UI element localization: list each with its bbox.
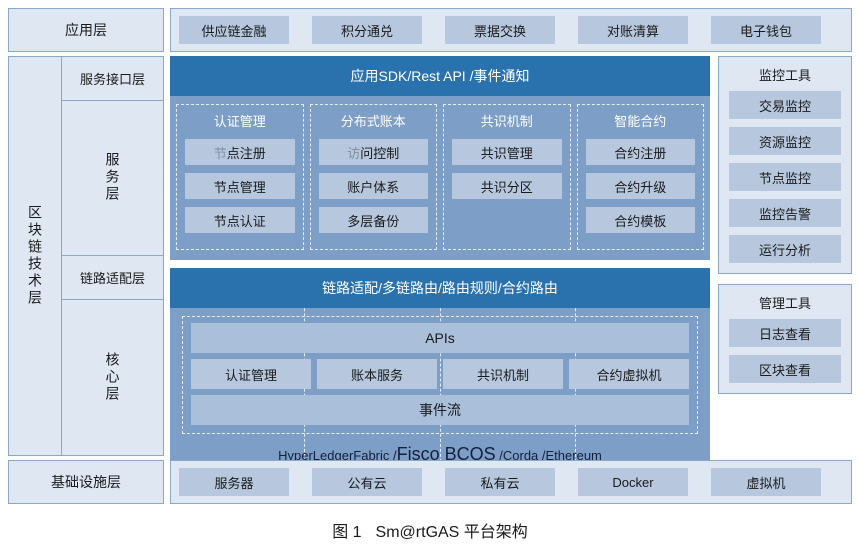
manage-tool-item[interactable]: 日志查看: [729, 319, 841, 347]
monitor-tool-item[interactable]: 资源监控: [729, 127, 841, 155]
service-interface-bar-text: 应用SDK/Rest API /事件通知: [351, 66, 530, 86]
link-adapter-bar-text: 链路适配/多链路由/路由规则/合约路由: [322, 278, 558, 298]
infra-item[interactable]: 虚拟机: [711, 468, 821, 496]
app-item[interactable]: 电子钱包: [711, 16, 821, 44]
monitor-tools-title: 监控工具: [729, 57, 841, 91]
core-module[interactable]: 共识机制: [443, 359, 563, 389]
manage-tools-title: 管理工具: [729, 285, 841, 319]
service-item[interactable]: 节点认证: [185, 207, 295, 233]
figure-title: Sm@rtGAS 平台架构: [376, 524, 528, 541]
core-module-row: 认证管理 账本服务 共识机制 合约虚拟机: [191, 359, 689, 389]
apis-bar-text: APIs: [425, 330, 455, 346]
figure-caption: 图 1Sm@rtGAS 平台架构: [0, 518, 860, 542]
app-item[interactable]: 积分通兑: [312, 16, 422, 44]
service-column-spacer: [452, 207, 562, 233]
service-item[interactable]: 节点注册: [185, 139, 295, 165]
core-module[interactable]: 认证管理: [191, 359, 311, 389]
link-adapter-bar: 链路适配/多链路由/路由规则/合约路由: [170, 268, 710, 308]
sublabel-text: 服务接口层: [80, 69, 145, 88]
sublabel-service-interface: 服务接口层: [62, 57, 163, 101]
service-item[interactable]: 多层备份: [319, 207, 429, 233]
apis-bar: APIs: [191, 323, 689, 353]
app-item[interactable]: 对账清算: [578, 16, 688, 44]
app-item[interactable]: 供应链金融: [179, 16, 289, 44]
service-item[interactable]: 访问控制: [319, 139, 429, 165]
core-layer-inner: APIs 认证管理 账本服务 共识机制 合约虚拟机 事件流 HyperLedge…: [170, 308, 710, 477]
infra-item[interactable]: 服务器: [179, 468, 289, 496]
tools-gap: [718, 274, 852, 284]
service-column-contract: 智能合约 合约注册 合约升级 合约模板: [577, 104, 705, 250]
infrastructure-layer-label-text: 基础设施层: [51, 472, 121, 492]
monitor-tool-item[interactable]: 交易监控: [729, 91, 841, 119]
monitor-tools-box: 监控工具 交易监控 资源监控 节点监控 监控告警 运行分析: [718, 56, 852, 274]
service-item[interactable]: 合约注册: [586, 139, 696, 165]
sublabel-service: 服务层: [62, 101, 163, 256]
manage-tools-box: 管理工具 日志查看 区块查看: [718, 284, 852, 394]
manage-tool-item[interactable]: 区块查看: [729, 355, 841, 383]
service-column-consensus: 共识机制 共识管理 共识分区: [443, 104, 571, 250]
infra-item[interactable]: Docker: [578, 468, 688, 496]
center-stack: 应用SDK/Rest API /事件通知 认证管理 节点注册 节点管理 节点认证…: [170, 56, 710, 477]
sublabel-text: 核心层: [106, 352, 120, 403]
architecture-diagram: 应用层 供应链金融 积分通兑 票据交换 对账清算 电子钱包 区块链技术层 服务接…: [0, 0, 860, 554]
service-column-title: 认证管理: [214, 111, 266, 130]
service-column-title: 智能合约: [614, 111, 666, 130]
core-module[interactable]: 账本服务: [317, 359, 437, 389]
service-item[interactable]: 共识管理: [452, 139, 562, 165]
core-dashed-box: APIs 认证管理 账本服务 共识机制 合约虚拟机 事件流: [182, 316, 698, 434]
event-stream-bar: 事件流: [191, 395, 689, 425]
service-item[interactable]: 账户体系: [319, 173, 429, 199]
figure-index: 图 1: [332, 524, 361, 541]
application-layer-label-text: 应用层: [65, 20, 107, 40]
service-item[interactable]: 合约模板: [586, 207, 696, 233]
core-module[interactable]: 合约虚拟机: [569, 359, 689, 389]
infrastructure-layer-strip: 服务器 公有云 私有云 Docker 虚拟机: [170, 460, 852, 504]
service-item[interactable]: 共识分区: [452, 173, 562, 199]
service-column-auth: 认证管理 节点注册 节点管理 节点认证: [176, 104, 304, 250]
service-item[interactable]: 合约升级: [586, 173, 696, 199]
monitor-tool-item[interactable]: 运行分析: [729, 235, 841, 263]
infra-item[interactable]: 公有云: [312, 468, 422, 496]
service-interface-bar: 应用SDK/Rest API /事件通知: [170, 56, 710, 96]
blockchain-layer-labels: 区块链技术层 服务接口层 服务层 链路适配层 核心层: [8, 56, 164, 456]
service-item[interactable]: 节点管理: [185, 173, 295, 199]
service-column-ledger: 分布式账本 访问控制 账户体系 多层备份: [310, 104, 438, 250]
blockchain-tech-layer-text: 区块链技术层: [28, 205, 42, 307]
right-tools-column: 监控工具 交易监控 资源监控 节点监控 监控告警 运行分析 管理工具 日志查看 …: [718, 56, 852, 394]
sublabel-text: 链路适配层: [80, 268, 145, 287]
sublabel-link-adapter: 链路适配层: [62, 256, 163, 300]
service-column-title: 共识机制: [481, 111, 533, 130]
app-item[interactable]: 票据交换: [445, 16, 555, 44]
application-layer-label: 应用层: [8, 8, 164, 52]
sublabel-text: 服务层: [106, 152, 120, 203]
monitor-tool-item[interactable]: 监控告警: [729, 199, 841, 227]
service-layer-panel: 认证管理 节点注册 节点管理 节点认证 分布式账本 访问控制 账户体系 多层备份…: [170, 96, 710, 260]
service-column-title: 分布式账本: [341, 111, 406, 130]
infra-item[interactable]: 私有云: [445, 468, 555, 496]
monitor-tool-item[interactable]: 节点监控: [729, 163, 841, 191]
application-layer-strip: 供应链金融 积分通兑 票据交换 对账清算 电子钱包: [170, 8, 852, 52]
event-stream-text: 事件流: [419, 400, 461, 420]
core-layer-wrapper: 链路适配/多链路由/路由规则/合约路由 APIs 认证管理 账本服务 共识机制 …: [170, 268, 710, 477]
sublabel-core: 核心层: [62, 300, 163, 455]
blockchain-tech-layer-label: 区块链技术层: [9, 57, 62, 455]
infrastructure-layer-label: 基础设施层: [8, 460, 164, 504]
